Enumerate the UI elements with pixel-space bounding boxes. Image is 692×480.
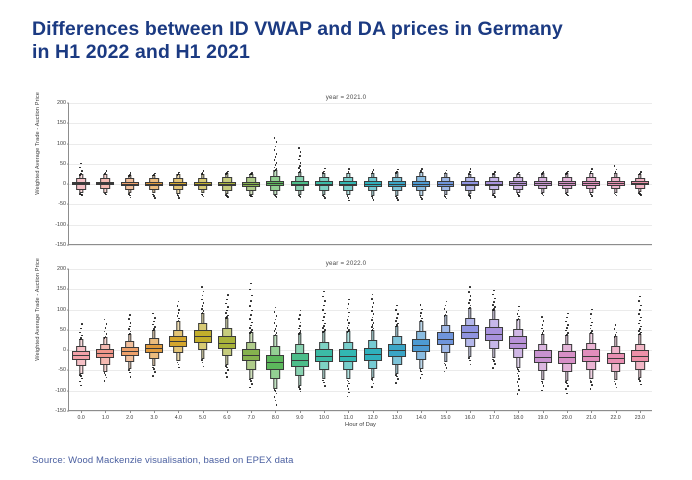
boxen-glyph	[215, 269, 239, 411]
outlier-point	[590, 318, 592, 320]
outlier-point	[640, 326, 642, 328]
outlier-point	[274, 149, 276, 151]
outlier-point	[81, 323, 83, 325]
x-tick-mark	[251, 411, 252, 413]
median-line	[412, 184, 430, 185]
outlier-point	[638, 313, 640, 315]
outlier-point	[225, 372, 227, 374]
outlier-point	[322, 172, 324, 174]
x-tick-mark	[105, 411, 106, 413]
y-tick-label: -150	[55, 408, 66, 414]
outlier-point	[249, 387, 251, 389]
median-line	[169, 184, 187, 185]
outlier-point	[250, 314, 252, 316]
boxen-glyph	[336, 103, 360, 245]
outlier-point	[203, 302, 205, 304]
outlier-point	[566, 383, 568, 385]
outlier-point	[251, 329, 253, 331]
outlier-point	[177, 315, 179, 317]
outlier-point	[275, 164, 277, 166]
outlier-point	[81, 378, 83, 380]
y-tick-label: 150	[57, 120, 66, 126]
x-tick-mark	[446, 411, 447, 413]
outlier-point	[274, 311, 276, 313]
outlier-point	[154, 326, 156, 328]
outlier-point	[299, 165, 301, 167]
outlier-point	[421, 309, 423, 311]
outlier-point	[300, 310, 302, 312]
outlier-point	[152, 324, 154, 326]
boxen-glyph	[361, 269, 385, 411]
median-line	[96, 353, 114, 354]
x-tick-mark	[640, 411, 641, 413]
outlier-point	[420, 312, 422, 314]
outlier-point	[640, 194, 642, 196]
outlier-point	[322, 296, 324, 298]
outlier-point	[373, 199, 375, 201]
outlier-point	[80, 173, 82, 175]
boxen-glyph	[118, 269, 142, 411]
x-tick-label: 20.0	[562, 415, 572, 421]
outlier-point	[395, 320, 397, 322]
median-line	[291, 360, 309, 361]
outlier-point	[373, 169, 375, 171]
outlier-point	[492, 294, 494, 296]
outlier-point	[203, 366, 205, 368]
source-note: Source: Wood Mackenzie visualisation, ba…	[32, 455, 294, 466]
outlier-point	[373, 313, 375, 315]
outlier-point	[105, 327, 107, 329]
outlier-point	[543, 320, 545, 322]
y-tick-label: 100	[57, 141, 66, 147]
x-tick-mark	[130, 411, 131, 413]
outlier-point	[566, 327, 568, 329]
outlier-point	[226, 310, 228, 312]
outlier-point	[372, 380, 374, 382]
y-tick-label: -100	[55, 222, 66, 228]
outlier-point	[542, 324, 544, 326]
boxen-glyph	[142, 269, 166, 411]
outlier-point	[324, 197, 326, 199]
outlier-point	[614, 381, 616, 383]
outlier-point	[202, 305, 204, 307]
x-tick-label: 12.0	[368, 415, 378, 421]
outlier-point	[468, 302, 470, 304]
outlier-point	[639, 296, 641, 298]
outlier-point	[518, 385, 520, 387]
outlier-point	[371, 298, 373, 300]
outlier-point	[106, 170, 108, 172]
outlier-point	[517, 313, 519, 315]
y-gridline	[69, 411, 652, 412]
outlier-point	[444, 308, 446, 310]
outlier-point	[639, 333, 641, 335]
outlier-point	[494, 306, 496, 308]
outlier-point	[153, 328, 155, 330]
outlier-point	[396, 376, 398, 378]
boxen-glyph	[385, 103, 409, 245]
outlier-point	[177, 305, 179, 307]
outlier-point	[227, 294, 229, 296]
boxen-glyph	[190, 269, 214, 411]
boxen-glyph	[603, 269, 627, 411]
outlier-point	[300, 197, 302, 199]
median-line	[461, 332, 479, 333]
outlier-point	[493, 360, 495, 362]
outlier-point	[251, 196, 253, 198]
outlier-point	[106, 323, 108, 325]
outlier-point	[517, 393, 519, 395]
boxen-glyph	[409, 269, 433, 411]
median-line	[558, 183, 576, 184]
outlier-point	[249, 305, 251, 307]
median-line	[121, 351, 139, 352]
outlier-point	[274, 159, 276, 161]
outlier-point	[470, 168, 472, 170]
outlier-point	[276, 162, 278, 164]
outlier-point	[347, 385, 349, 387]
boxen-glyph	[93, 269, 117, 411]
median-line	[339, 184, 357, 185]
outlier-point	[373, 302, 375, 304]
outlier-point	[80, 337, 82, 339]
outlier-point	[614, 165, 616, 167]
outlier-point	[640, 317, 642, 319]
x-tick-label: 9.0	[296, 415, 303, 421]
outlier-point	[104, 331, 106, 333]
x-tick-label: 21.0	[586, 415, 596, 421]
outlier-point	[201, 359, 203, 361]
outlier-point	[129, 326, 131, 328]
outlier-point	[420, 320, 422, 322]
outlier-point	[348, 383, 350, 385]
outlier-point	[567, 313, 569, 315]
outlier-point	[324, 313, 326, 315]
outlier-point	[396, 305, 398, 307]
outlier-point	[227, 306, 229, 308]
outlier-point	[274, 396, 276, 398]
outlier-point	[203, 310, 205, 312]
outlier-point	[324, 168, 326, 170]
outlier-point	[348, 312, 350, 314]
outlier-point	[276, 141, 278, 143]
x-tick-mark	[348, 411, 349, 413]
outlier-point	[81, 170, 83, 172]
outlier-point	[518, 375, 520, 377]
median-line	[509, 343, 527, 344]
x-tick-mark	[203, 411, 204, 413]
outlier-point	[300, 169, 302, 171]
facet-panel-2021: year = 2021.0 Weighted Average Trade - A…	[36, 92, 656, 258]
outlier-point	[227, 196, 229, 198]
x-tick-label: 19.0	[538, 415, 548, 421]
outlier-point	[105, 374, 107, 376]
outlier-point	[591, 322, 593, 324]
plot-area-2021: -150-100-50050100150200	[68, 103, 652, 245]
median-line	[218, 184, 236, 185]
outlier-point	[324, 323, 326, 325]
x-tick-mark	[178, 411, 179, 413]
median-line	[582, 183, 600, 184]
outlier-point	[469, 360, 471, 362]
outlier-point	[420, 371, 422, 373]
x-tick-label: 8.0	[272, 415, 279, 421]
outlier-point	[323, 305, 325, 307]
outlier-point	[275, 328, 277, 330]
outlier-point	[178, 364, 180, 366]
outlier-point	[348, 388, 350, 390]
outlier-point	[591, 195, 593, 197]
x-tick-mark	[518, 411, 519, 413]
outlier-point	[276, 168, 278, 170]
outlier-point	[371, 326, 373, 328]
median-line	[291, 184, 309, 185]
facet-title-2021: year = 2021.0	[36, 92, 656, 103]
outlier-point	[298, 318, 300, 320]
outlier-point	[105, 172, 107, 174]
y-tick-label: 200	[57, 266, 66, 272]
outlier-point	[152, 375, 154, 377]
outlier-point	[493, 290, 495, 292]
outlier-point	[591, 309, 593, 311]
median-line	[96, 183, 114, 184]
outlier-point	[298, 147, 300, 149]
boxen-glyph	[531, 103, 555, 245]
outlier-point	[225, 303, 227, 305]
outlier-point	[470, 197, 472, 199]
y-tick-label: 0	[63, 347, 66, 353]
outlier-point	[470, 305, 472, 307]
outlier-point	[347, 327, 349, 329]
outlier-point	[275, 156, 277, 158]
outlier-point	[348, 322, 350, 324]
median-line	[437, 339, 455, 340]
outlier-point	[324, 300, 326, 302]
x-tick-mark	[154, 411, 155, 413]
outlier-point	[80, 163, 82, 165]
chart-figure: year = 2021.0 Weighted Average Trade - A…	[36, 92, 656, 442]
median-line	[339, 356, 357, 357]
outlier-point	[638, 300, 640, 302]
outlier-point	[129, 174, 131, 176]
outlier-point	[542, 382, 544, 384]
outlier-point	[347, 319, 349, 321]
page-title-line-2: in H1 2022 and H1 2021	[32, 41, 662, 64]
median-line	[582, 356, 600, 357]
outlier-point	[615, 324, 617, 326]
boxen-glyph	[239, 103, 263, 245]
outlier-point	[324, 329, 326, 331]
outlier-point	[567, 195, 569, 197]
median-line	[388, 350, 406, 351]
outlier-point	[615, 383, 617, 385]
x-tick-label: 15.0	[440, 415, 450, 421]
outlier-point	[348, 330, 350, 332]
boxen-glyph	[118, 103, 142, 245]
outlier-point	[639, 380, 641, 382]
outlier-point	[275, 400, 277, 402]
outlier-point	[178, 197, 180, 199]
outlier-point	[638, 323, 640, 325]
outlier-point	[275, 319, 277, 321]
outlier-point	[80, 375, 82, 377]
x-tick-label: 3.0	[150, 415, 157, 421]
x-tick-label: 0.0	[78, 415, 85, 421]
boxen-glyph	[579, 103, 603, 245]
outlier-point	[372, 324, 374, 326]
y-axis-label-2022: Weighted Average Trade - Auction Price	[35, 258, 47, 361]
outlier-point	[566, 172, 568, 174]
outlier-point	[178, 309, 180, 311]
boxen-glyph	[166, 103, 190, 245]
outlier-point	[372, 317, 374, 319]
outlier-point	[275, 390, 277, 392]
outlier-point	[274, 137, 276, 139]
outlier-point	[276, 393, 278, 395]
outlier-point	[518, 378, 520, 380]
outlier-point	[517, 373, 519, 375]
outlier-point	[565, 321, 567, 323]
outlier-point	[493, 173, 495, 175]
outlier-point	[566, 317, 568, 319]
outlier-point	[543, 330, 545, 332]
median-line	[558, 357, 576, 358]
outlier-point	[203, 196, 205, 198]
median-line	[315, 184, 333, 185]
outlier-point	[323, 291, 325, 293]
outlier-point	[468, 173, 470, 175]
x-tick-label: 5.0	[199, 415, 206, 421]
outlier-point	[590, 388, 592, 390]
outlier-point	[640, 171, 642, 173]
outlier-point	[324, 385, 326, 387]
outlier-point	[225, 312, 227, 314]
boxen-glyph	[312, 269, 336, 411]
outlier-point	[372, 306, 374, 308]
boxen-glyph	[555, 103, 579, 245]
x-tick-label: 13.0	[392, 415, 402, 421]
outlier-point	[153, 368, 155, 370]
outlier-point	[421, 168, 423, 170]
outlier-point	[79, 332, 81, 334]
y-tick-label: 50	[60, 327, 66, 333]
x-tick-mark	[470, 411, 471, 413]
x-tick-label: 4.0	[175, 415, 182, 421]
outlier-point	[275, 146, 277, 148]
outlier-point	[639, 309, 641, 311]
outlier-point	[348, 168, 350, 170]
outlier-point	[371, 386, 373, 388]
outlier-point	[421, 374, 423, 376]
x-tick-label: 10.0	[319, 415, 329, 421]
outlier-point	[298, 159, 300, 161]
outlier-point	[567, 171, 569, 173]
outlier-point	[492, 367, 494, 369]
outlier-point	[493, 301, 495, 303]
outlier-point	[276, 325, 278, 327]
boxen-glyph	[628, 103, 652, 245]
x-tick-label: 17.0	[489, 415, 499, 421]
outlier-point	[250, 283, 252, 285]
outlier-point	[129, 314, 131, 316]
outlier-point	[79, 174, 81, 176]
outlier-point	[300, 151, 302, 153]
boxen-glyph	[482, 269, 506, 411]
boxen-glyph	[482, 103, 506, 245]
outlier-point	[250, 331, 252, 333]
boxen-glyph	[531, 269, 555, 411]
outlier-point	[565, 388, 567, 390]
outlier-point	[518, 310, 520, 312]
outlier-point	[470, 295, 472, 297]
x-tick-label: 1.0	[102, 415, 109, 421]
facet-title-2022: year = 2022.0	[36, 258, 656, 269]
boxen-glyph	[288, 103, 312, 245]
outlier-point	[276, 153, 278, 155]
y-tick-label: 50	[60, 161, 66, 167]
outlier-point	[348, 197, 350, 199]
outlier-point	[397, 169, 399, 171]
outlier-point	[493, 308, 495, 310]
outlier-point	[300, 162, 302, 164]
outlier-point	[322, 309, 324, 311]
outlier-point	[591, 168, 593, 170]
outlier-point	[298, 333, 300, 335]
x-tick-mark	[494, 411, 495, 413]
outlier-point	[299, 388, 301, 390]
boxen-glyph	[215, 103, 239, 245]
outlier-point	[567, 385, 569, 387]
outlier-point	[517, 381, 519, 383]
median-line	[388, 184, 406, 185]
outlier-point	[397, 323, 399, 325]
outlier-point	[348, 200, 350, 202]
outlier-point	[178, 312, 180, 314]
x-tick-label: 18.0	[513, 415, 523, 421]
median-line	[485, 184, 503, 185]
boxen-glyph	[433, 103, 457, 245]
outlier-point	[446, 301, 448, 303]
median-line	[242, 184, 260, 185]
outlier-point	[249, 327, 251, 329]
boxen-glyph	[458, 103, 482, 245]
outlier-point	[372, 294, 374, 296]
outlier-point	[251, 310, 253, 312]
outlier-point	[249, 318, 251, 320]
boxen-glyph	[166, 269, 190, 411]
x-tick-mark	[81, 411, 82, 413]
outlier-point	[106, 333, 108, 335]
outlier-point	[518, 389, 520, 391]
outlier-point	[130, 172, 132, 174]
x-tick-mark	[616, 411, 617, 413]
outlier-point	[347, 308, 349, 310]
outlier-point	[591, 384, 593, 386]
outlier-point	[81, 194, 83, 196]
median-line	[461, 184, 479, 185]
outlier-point	[469, 286, 471, 288]
outlier-point	[226, 299, 228, 301]
x-tick-label: 22.0	[611, 415, 621, 421]
x-tick-mark	[275, 411, 276, 413]
outlier-point	[323, 325, 325, 327]
median-line	[412, 345, 430, 346]
outlier-point	[251, 383, 253, 385]
outlier-point	[348, 303, 350, 305]
median-line	[364, 354, 382, 355]
boxen-glyph	[288, 269, 312, 411]
outlier-point	[396, 317, 398, 319]
